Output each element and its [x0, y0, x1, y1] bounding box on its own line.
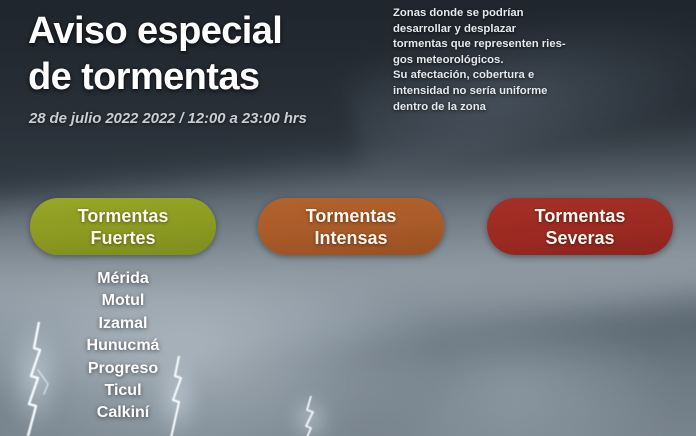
description-line: gos meteorológicos. — [393, 53, 683, 69]
category-label-line-2: Severas — [545, 227, 614, 249]
category-badge-fuertes[interactable]: Tormentas Fuertes — [30, 198, 216, 255]
page-title: Aviso especial de tormentas — [28, 8, 383, 100]
description-line: Zonas donde se podrían — [393, 6, 683, 22]
description-line: desarrollar y desplazar — [393, 22, 683, 38]
description-line: dentro de la zona — [393, 100, 683, 116]
description-text: Zonas donde se podrían desarrollar y des… — [393, 6, 683, 115]
description-line: intensidad no sería uniforme — [393, 84, 683, 100]
category-label-line-1: Tormentas — [78, 205, 169, 227]
category-badge-severas[interactable]: Tormentas Severas — [487, 198, 673, 255]
list-item: Izamal — [30, 313, 216, 335]
category-label-line-2: Intensas — [314, 227, 387, 249]
title-line-2: de tormentas — [28, 54, 383, 100]
cloud-wisp-lower-right — [348, 331, 682, 436]
title-line-1: Aviso especial — [28, 8, 383, 54]
category-badge-intensas[interactable]: Tormentas Intensas — [258, 198, 444, 255]
list-item: Ticul — [30, 380, 216, 402]
list-item: Hunucmá — [30, 335, 216, 357]
category-label-line-1: Tormentas — [535, 205, 626, 227]
category-label-line-2: Fuertes — [90, 227, 155, 249]
list-item: Calkiní — [30, 402, 216, 424]
list-item: Mérida — [30, 268, 216, 290]
description-line: Su afectación, cobertura e — [393, 68, 683, 84]
description-line: tormentas que representen ries- — [393, 37, 683, 53]
date-time-subtitle: 28 de julio 2022 2022 / 12:00 a 23:00 hr… — [29, 110, 307, 127]
list-item: Motul — [30, 290, 216, 312]
category-label-line-1: Tormentas — [306, 205, 397, 227]
storm-alert-graphic: Aviso especial de tormentas 28 de julio … — [0, 0, 696, 436]
list-item: Progreso — [30, 358, 216, 380]
lightning-bolt-icon-right — [300, 396, 324, 436]
city-list-fuertes: Mérida Motul Izamal Hunucmá Progreso Tic… — [30, 268, 216, 425]
